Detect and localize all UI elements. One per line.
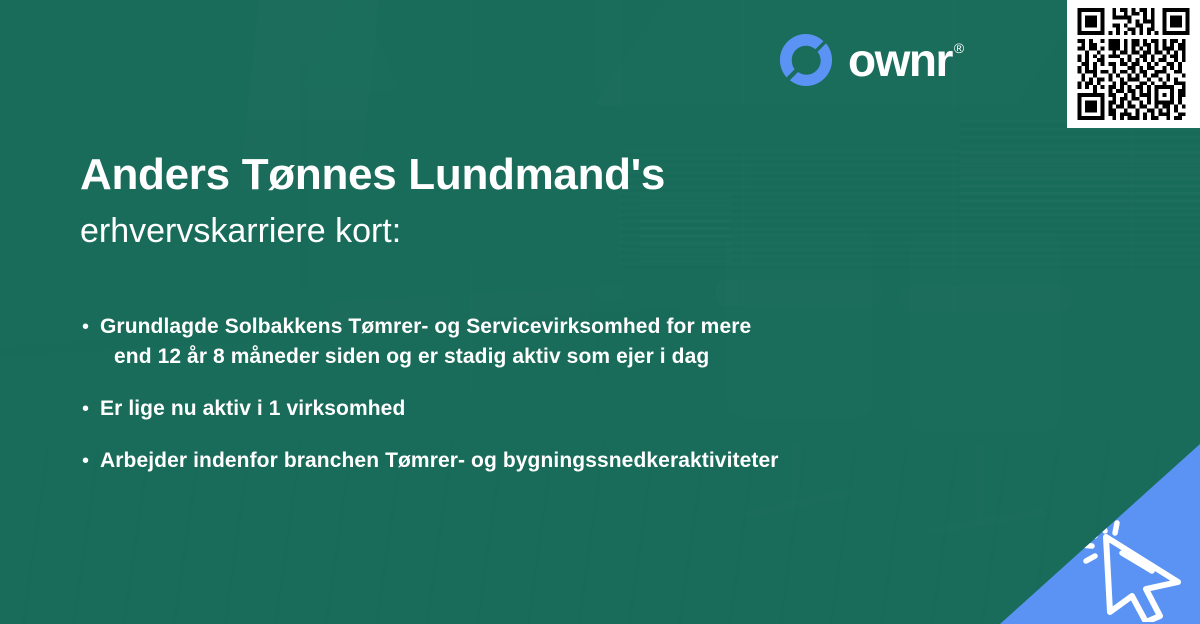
list-item-line: Er lige nu aktiv i 1 virksomhed	[100, 394, 405, 424]
list-item-line: Grundlagde Solbakkens Tømrer- og Service…	[100, 312, 751, 342]
list-item-text: Er lige nu aktiv i 1 virksomhed	[100, 394, 405, 424]
business-card-banner: ownr ® Anders Tønnes Lundmand's erhvervs…	[0, 0, 1200, 624]
qr-code-panel[interactable]	[1067, 0, 1200, 128]
ownr-wordmark: ownr ®	[848, 37, 964, 83]
list-item-text: Arbejder indenfor branchen Tømrer- og by…	[100, 446, 779, 476]
qr-code-icon	[1075, 8, 1192, 120]
ownr-logo[interactable]: ownr ®	[778, 32, 964, 88]
list-item-text: Grundlagde Solbakkens Tømrer- og Service…	[100, 312, 751, 372]
bullet-icon: •	[82, 394, 100, 424]
list-item-line: end 12 år 8 måneder siden og er stadig a…	[100, 342, 751, 372]
bullet-icon: •	[82, 312, 100, 342]
ownr-circle-swoosh-icon	[778, 32, 834, 88]
career-facts-list: • Grundlagde Solbakkens Tømrer- og Servi…	[82, 312, 1002, 498]
list-item: • Arbejder indenfor branchen Tømrer- og …	[82, 446, 1002, 476]
list-item: • Grundlagde Solbakkens Tømrer- og Servi…	[82, 312, 1002, 372]
list-item-line: Arbejder indenfor branchen Tømrer- og by…	[100, 446, 779, 476]
list-item: • Er lige nu aktiv i 1 virksomhed	[82, 394, 1002, 424]
bullet-icon: •	[82, 446, 100, 476]
ownr-wordmark-text: ownr	[848, 37, 952, 83]
page-title: Anders Tønnes Lundmand's	[80, 152, 665, 199]
page-subtitle: erhvervskarriere kort:	[80, 212, 401, 251]
registered-trademark-symbol: ®	[954, 41, 964, 55]
